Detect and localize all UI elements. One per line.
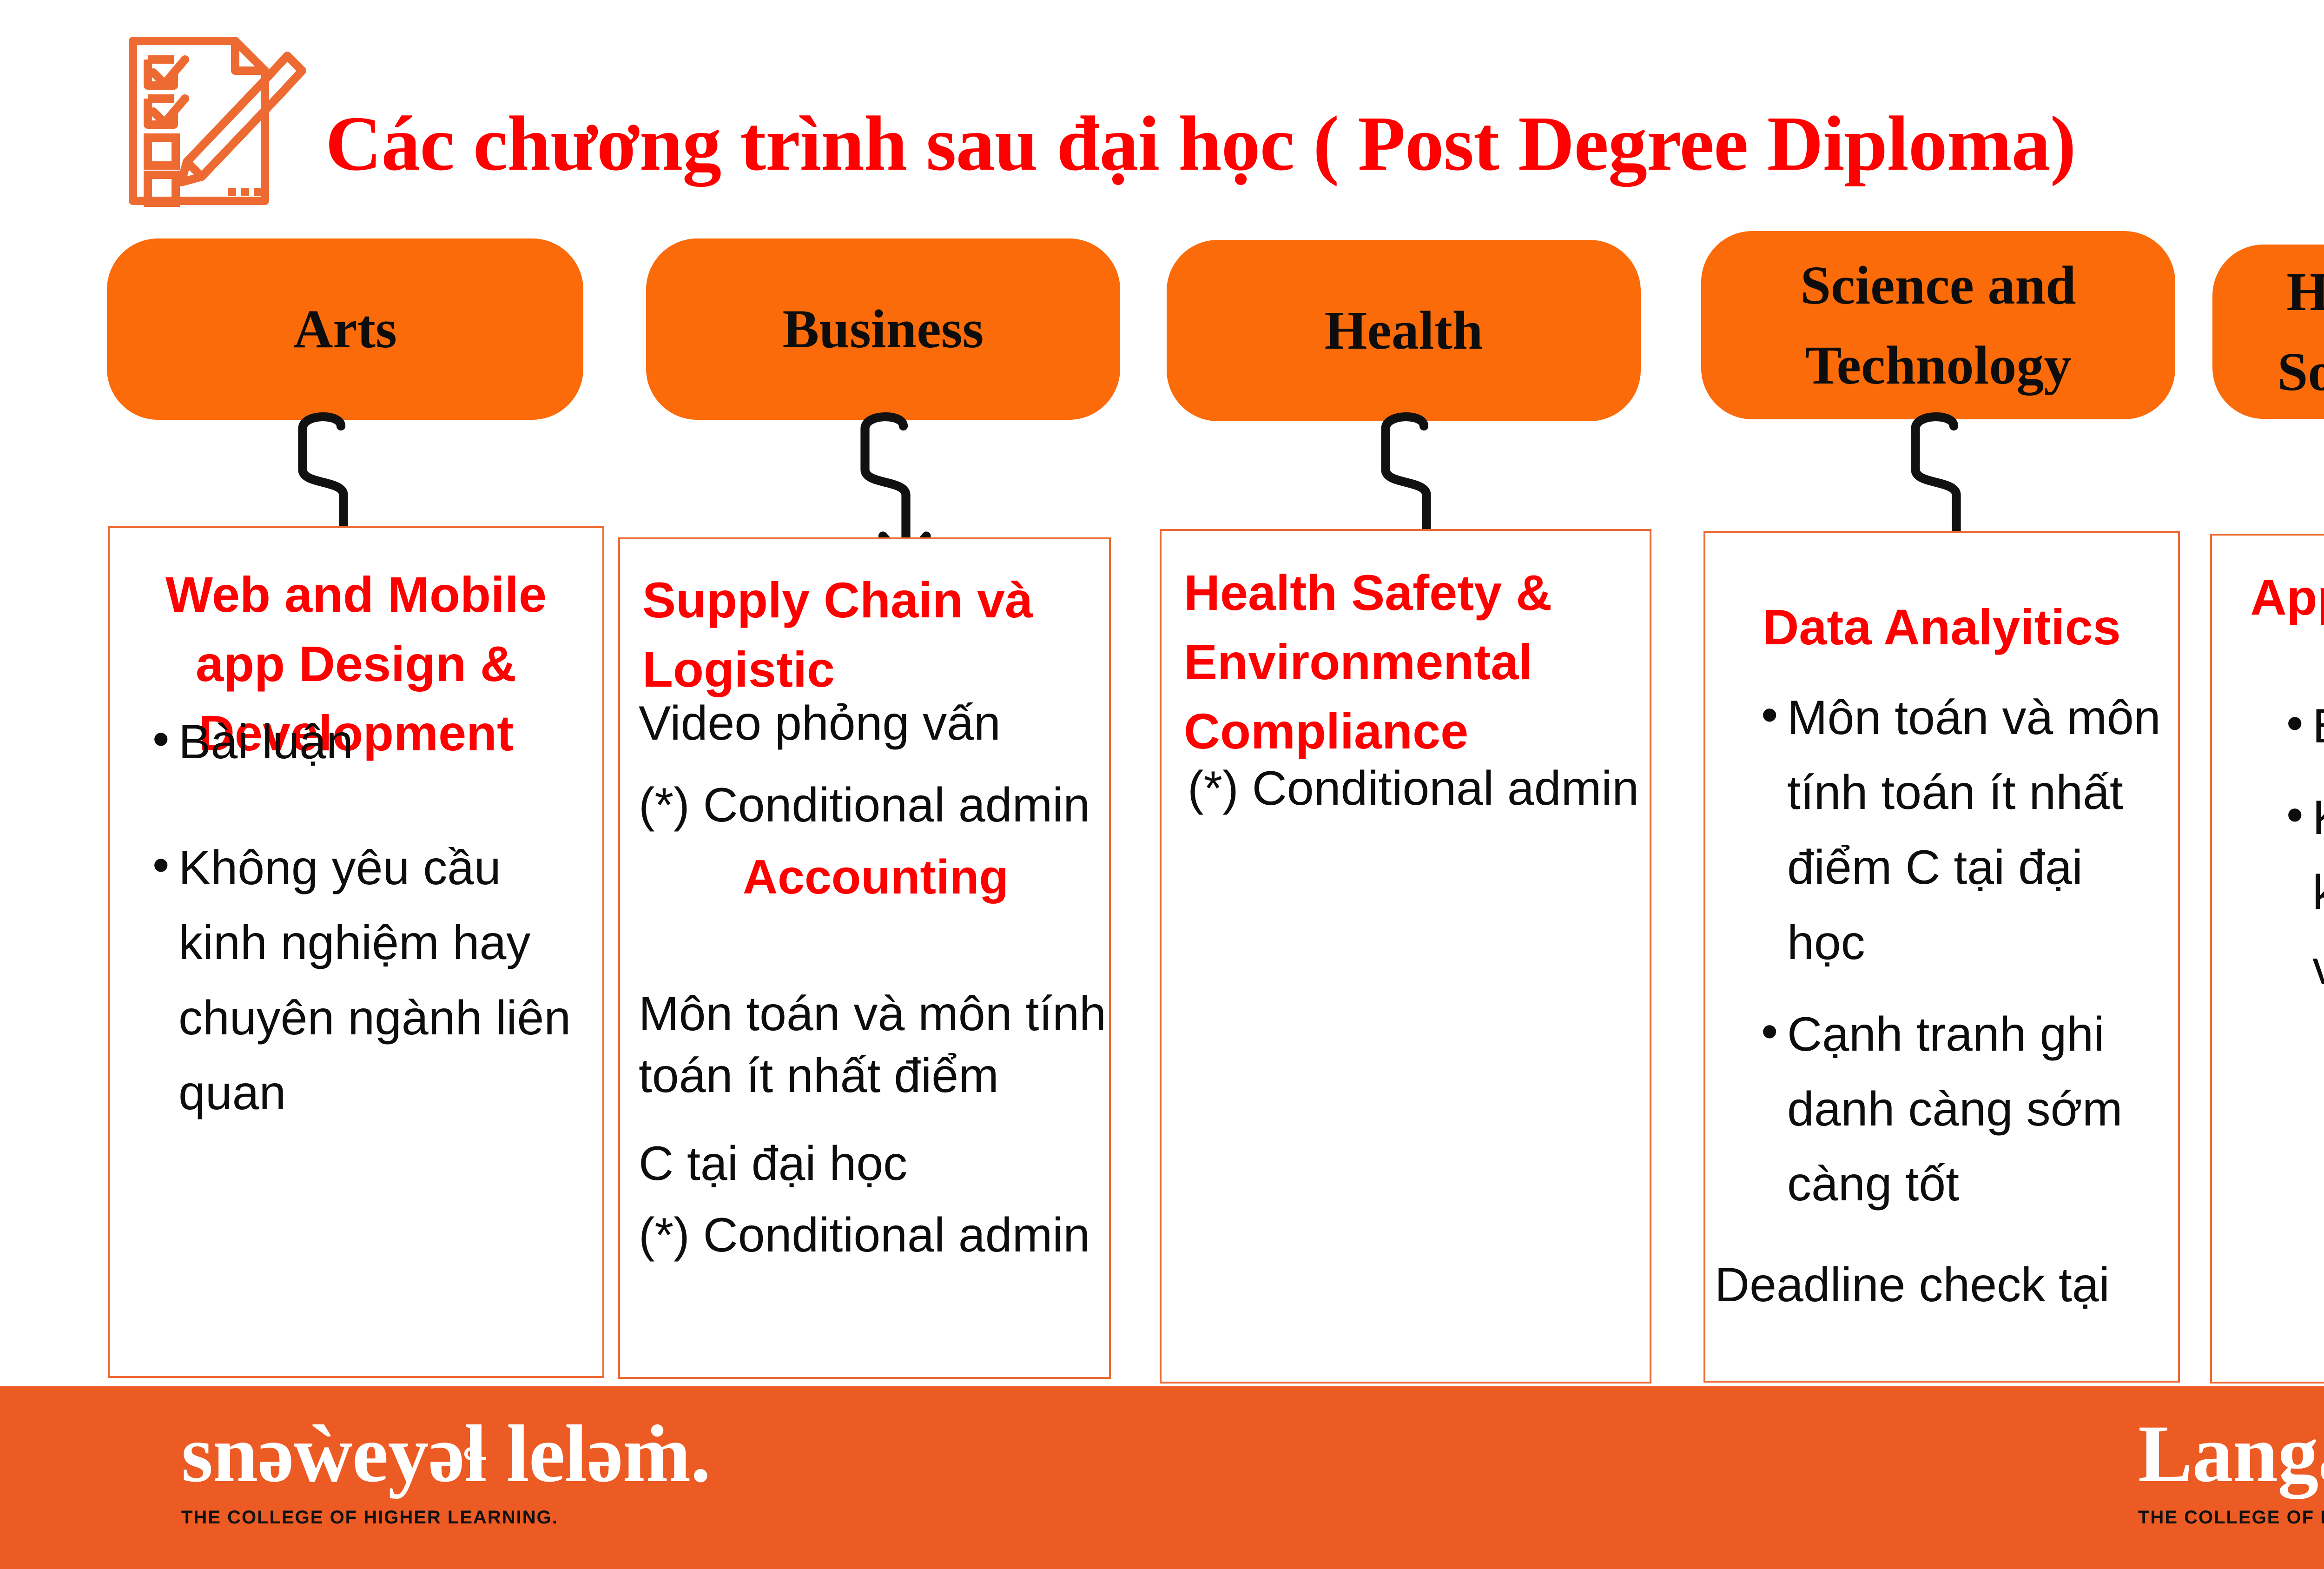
program-line: (*) Conditional admin [1188,753,1680,825]
logo-tagline: THE COLLEGE OF HIGHER LEARNING. [181,1508,710,1527]
list-item: Môn toán và môn tính toán ít nhất điểm C… [1761,681,2169,980]
list-item: Bài luận [2286,689,2324,764]
program-bullet-list: Môn toán và môn tính toán ít nhất điểm C… [1705,681,2178,1238]
category-label: Health [1325,291,1483,370]
program-line: C tại đại học [639,1128,1113,1200]
program-title: Applied Planning [2212,563,2324,632]
category-pill-humanities-social-sciences[interactable]: Humanities & Social Sciences [2212,245,2324,419]
program-box-data-analytics: Data Analyitics Môn toán và môn tính toá… [1703,531,2180,1383]
list-item: Cạnh tranh ghi danh càng sớm càng tốt [1761,997,2169,1222]
page-title: Các chương trình sau đại học ( Post Degr… [325,88,2185,199]
checklist-pencil-icon [116,28,311,214]
program-line: Video phỏng vấn [639,688,1113,760]
list-item: Không yêu cầu kinh nghiệm làm việc [2286,781,2324,1006]
program-box-applied-planning: Applied Planning Bài luận Không yêu cầu … [2210,534,2324,1384]
program-bullet-list: Bài luận Không yêu cầu kinh nghiệm hay c… [110,705,602,1147]
program-title: Health Safety & Environmental Compliance [1162,558,1650,766]
logo-wordmark: snəẁeyəɬ leləṁ. [181,1413,710,1495]
program-line: (*) Conditional admin [639,770,1113,841]
program-box-arts: Web and Mobile app Design & Development … [108,526,604,1378]
category-pill-science-and-technology[interactable]: Science and Technology [1701,231,2175,419]
program-box-health: Health Safety & Environmental Compliance… [1160,529,1651,1384]
category-label: Business [783,289,984,369]
category-pill-business[interactable]: Business [646,238,1120,420]
program-line: Môn toán và môn tính toán ít nhất điểm [639,983,1113,1107]
program-title: Supply Chain và Logistic [620,565,1109,704]
list-item: Bài luận [152,705,593,780]
logo-tagline: THE COLLEGE OF HIGHER LEARNING. [2138,1508,2324,1527]
category-label: Arts [293,289,397,369]
program-bullet-list: Bài luận Không yêu cầu kinh nghiệm làm v… [2212,689,2324,1022]
snaweyal-lelam-logo: snəẁeyəɬ leləṁ. THE COLLEGE OF HIGHER LE… [181,1413,710,1527]
category-pill-health[interactable]: Health [1167,240,1641,421]
slide-canvas: Các chương trình sau đại học ( Post Degr… [0,0,2324,1569]
category-label: Science and Technology [1715,245,2161,404]
program-box-business: Supply Chain và Logistic Video phỏng vấn… [618,537,1111,1379]
program-line: Deadline check tại [1715,1250,2207,1321]
list-item: Không yêu cầu kinh nghiệm hay chuyên ngà… [152,831,593,1131]
program-line: (*) Conditional admin [639,1200,1113,1271]
program-title: Data Analyitics [1705,592,2178,662]
program-subtitle: Accounting [639,846,1113,909]
category-label: Humanities & Social Sciences [2226,252,2324,411]
logo-wordmark: Langara. [2138,1413,2324,1495]
langara-logo: Langara. THE COLLEGE OF HIGHER LEARNING. [2138,1413,2324,1527]
category-pill-arts[interactable]: Arts [107,238,583,420]
